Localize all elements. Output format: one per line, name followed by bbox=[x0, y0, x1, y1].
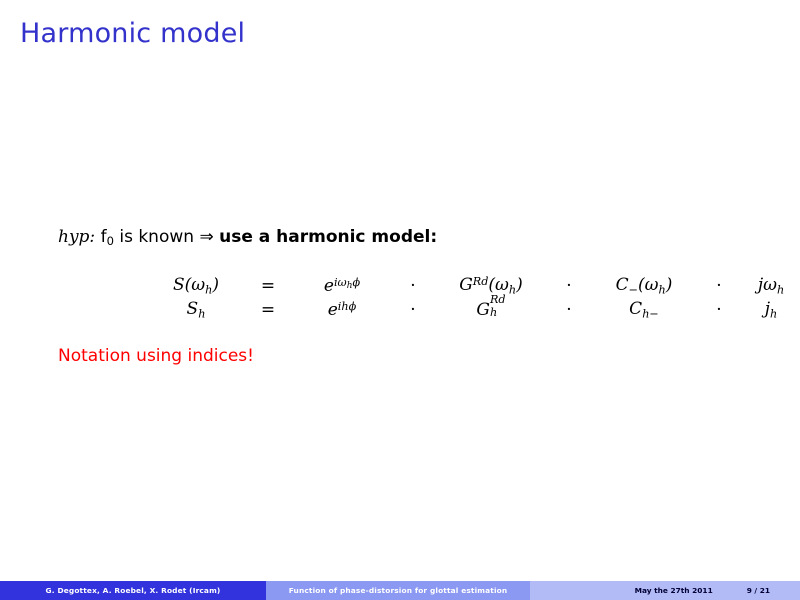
page-title: Harmonic model bbox=[20, 18, 245, 49]
footer-page-number: 9 / 21 bbox=[747, 586, 770, 595]
eq2-equals: = bbox=[242, 298, 294, 322]
eq2-dot-3: · bbox=[696, 298, 742, 322]
eq2-c-term: Ch− bbox=[592, 298, 696, 322]
equation-table: S(ωh) = eiωhϕ · GRd(ωh) · C−(ωh) · jωh S… bbox=[150, 274, 800, 322]
notation-note: Notation using indices! bbox=[58, 346, 254, 366]
hypothesis-label: hyp: bbox=[58, 227, 95, 247]
equation-row: Sh = eihϕ · GRdh · Ch− · jh bbox=[150, 298, 800, 322]
eq2-dot-1: · bbox=[390, 298, 436, 322]
eq1-dot-3: · bbox=[696, 274, 742, 298]
eq1-j-term: jωh bbox=[742, 274, 800, 298]
footer-date: May the 27th 2011 bbox=[635, 586, 713, 595]
footer-meta: May the 27th 2011 9 / 21 bbox=[530, 581, 800, 600]
eq1-exponential: eiωhϕ bbox=[294, 274, 390, 298]
equation-array: S(ωh) = eiωhϕ · GRd(ωh) · C−(ωh) · jωh S… bbox=[0, 274, 800, 322]
hypothesis-line: hyp: f0 is known ⇒ use a harmonic model: bbox=[58, 228, 437, 248]
eq1-lhs: S(ωh) bbox=[150, 274, 242, 298]
eq2-exponential: eihϕ bbox=[294, 298, 390, 322]
slide-footer: G. Degottex, A. Roebel, X. Rodet (Ircam)… bbox=[0, 581, 800, 600]
equation-row: S(ωh) = eiωhϕ · GRd(ωh) · C−(ωh) · jωh bbox=[150, 274, 800, 298]
f0-subscript: 0 bbox=[107, 234, 114, 248]
implies-icon: ⇒ bbox=[199, 227, 213, 247]
eq2-dot-2: · bbox=[546, 298, 592, 322]
eq2-j-term: jh bbox=[742, 298, 800, 322]
footer-presentation-title: Function of phase-distorsion for glottal… bbox=[266, 581, 530, 600]
eq1-c-term: C−(ωh) bbox=[592, 274, 696, 298]
eq1-dot-1: · bbox=[390, 274, 436, 298]
eq2-glottal-term: GRdh bbox=[436, 298, 546, 322]
eq1-dot-2: · bbox=[546, 274, 592, 298]
eq1-equals: = bbox=[242, 274, 294, 298]
hypothesis-middle: is known bbox=[114, 227, 200, 247]
eq2-lhs: Sh bbox=[150, 298, 242, 322]
footer-authors: G. Degottex, A. Roebel, X. Rodet (Ircam) bbox=[0, 581, 266, 600]
slide-canvas: Harmonic model hyp: f0 is known ⇒ use a … bbox=[0, 0, 800, 600]
hypothesis-conclusion: use a harmonic model: bbox=[219, 227, 437, 247]
